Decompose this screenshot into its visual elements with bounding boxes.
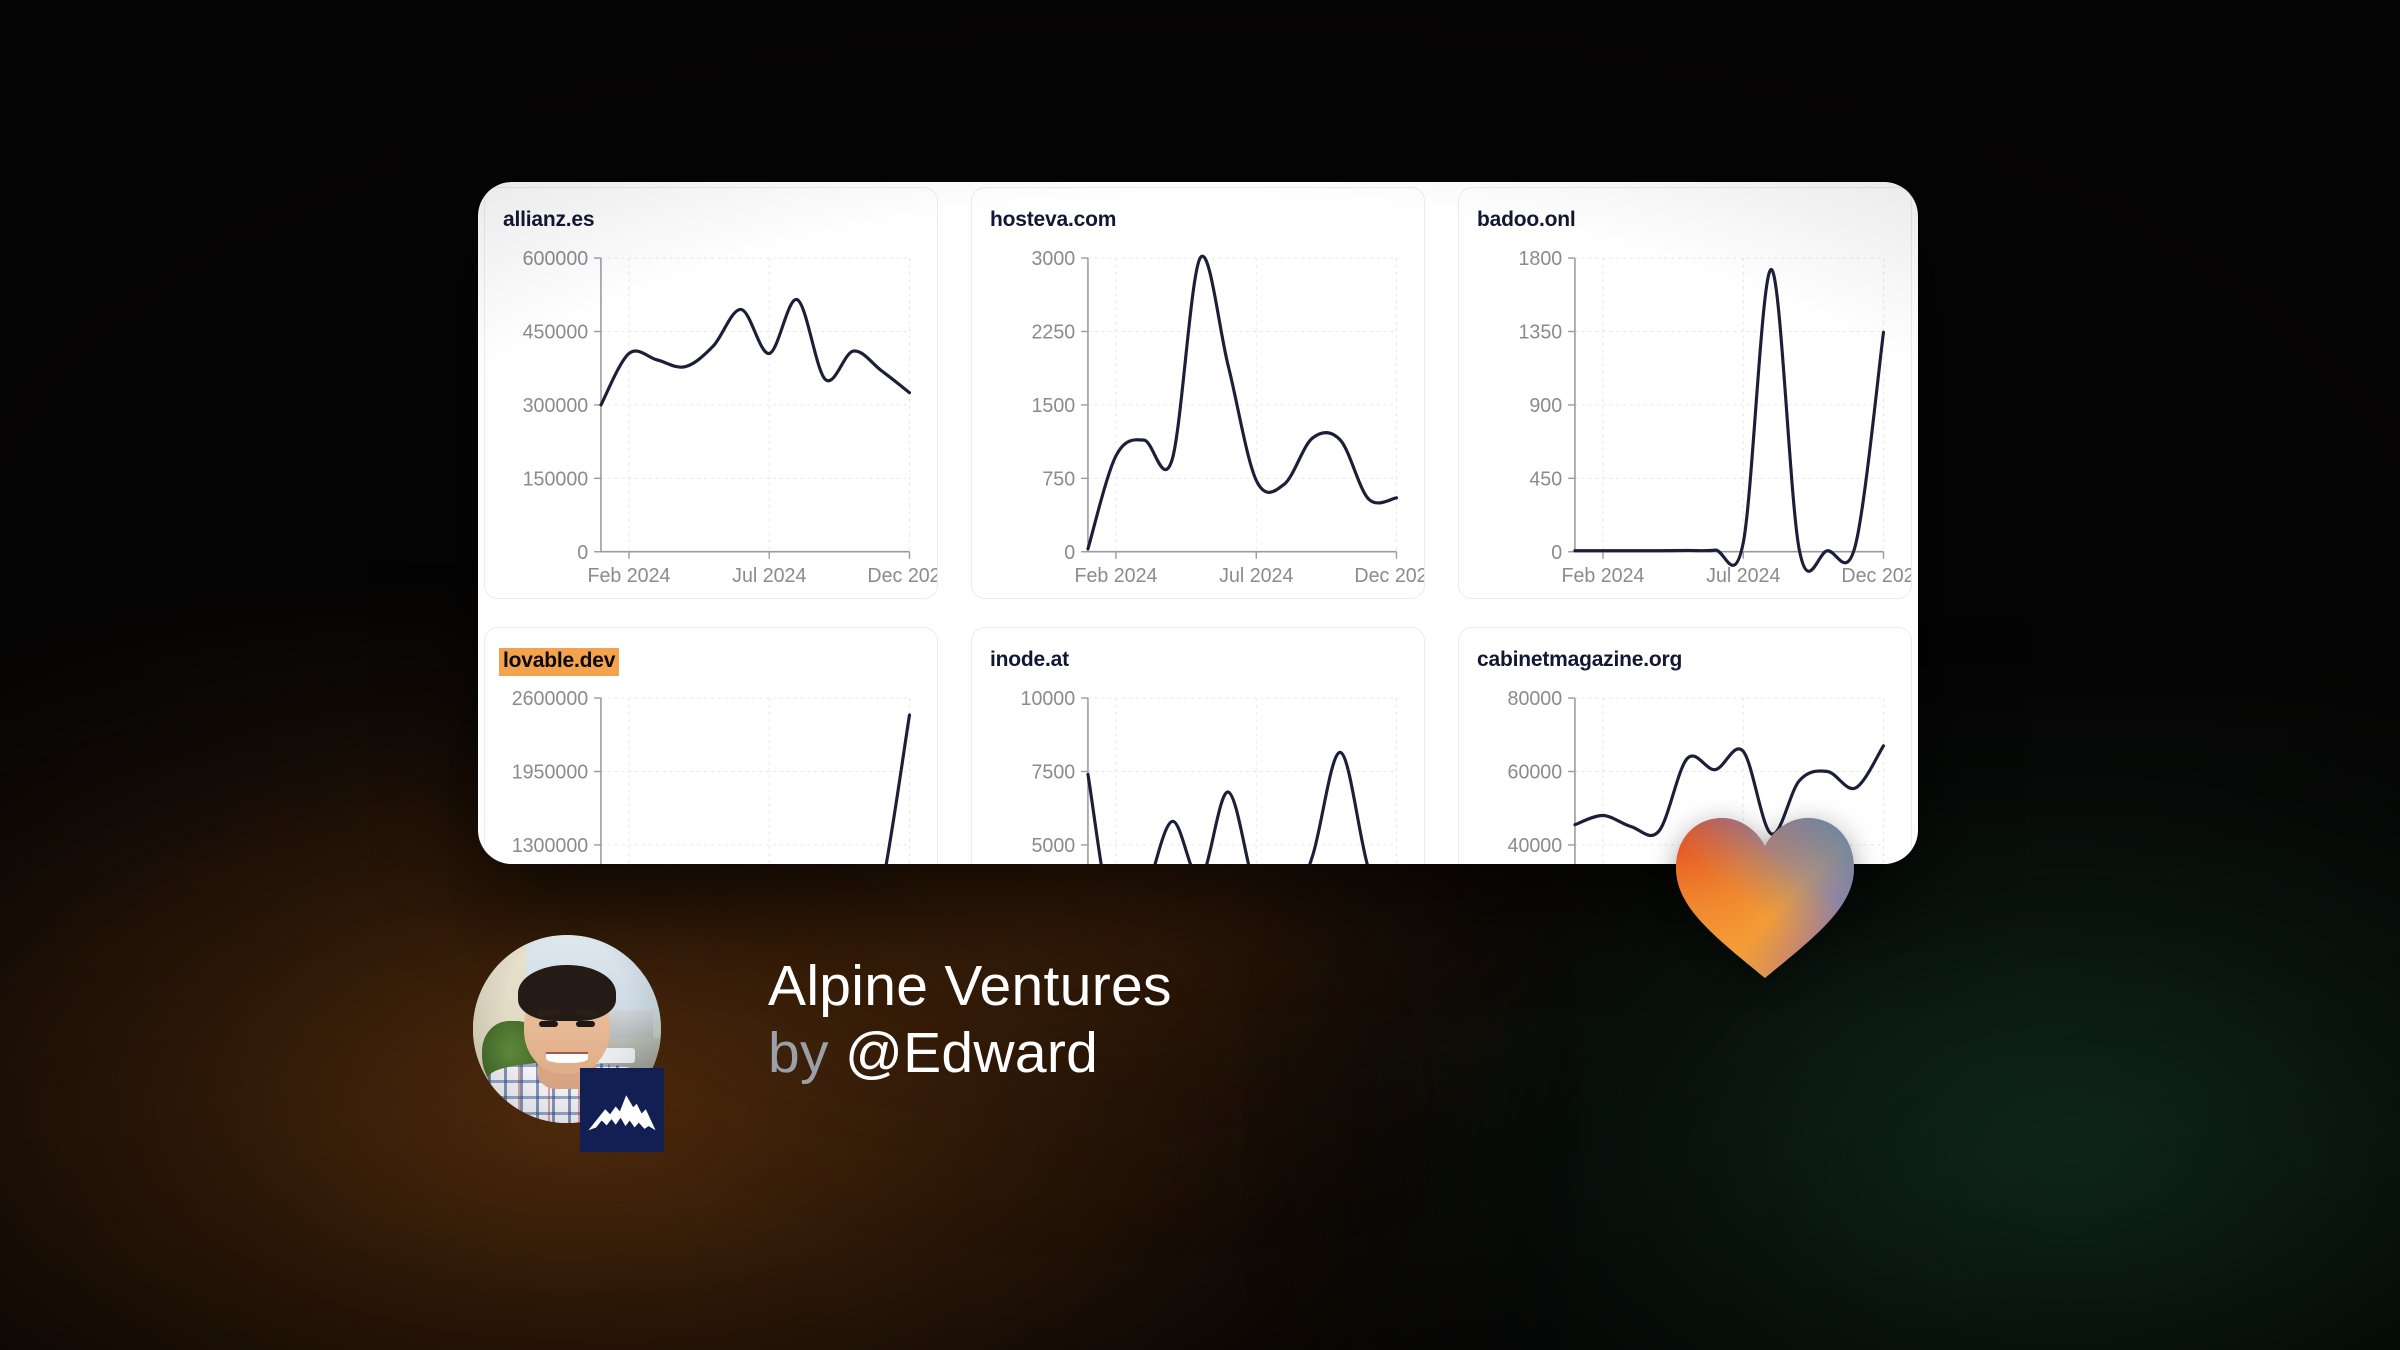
svg-text:1350: 1350: [1518, 321, 1562, 343]
by-label: by: [768, 1021, 829, 1085]
chart-plot: 25005000750010000: [972, 686, 1424, 864]
chart-card[interactable]: lovable.dev650000130000019500002600000: [484, 627, 938, 864]
svg-text:Feb 2024: Feb 2024: [1074, 565, 1157, 587]
svg-text:1500: 1500: [1031, 395, 1075, 417]
chart-title: lovable.dev: [499, 648, 619, 676]
chart-card[interactable]: hosteva.com0750150022503000Feb 2024Jul 2…: [971, 187, 1425, 599]
svg-text:Dec 2024: Dec 2024: [867, 565, 937, 587]
handle: @Edward: [845, 1021, 1098, 1085]
svg-text:450: 450: [1529, 468, 1562, 490]
chart-card[interactable]: badoo.onl045090013501800Feb 2024Jul 2024…: [1458, 187, 1912, 599]
svg-text:10000: 10000: [1021, 688, 1076, 710]
svg-text:300000: 300000: [523, 395, 589, 417]
identity-block: Alpine Ventures by @Edward: [768, 955, 1668, 1089]
svg-text:Jul 2024: Jul 2024: [1706, 565, 1780, 587]
avatar: [473, 935, 661, 1123]
chart-card[interactable]: allianz.es0150000300000450000600000Feb 2…: [484, 187, 938, 599]
svg-text:80000: 80000: [1508, 688, 1563, 710]
svg-text:1950000: 1950000: [512, 761, 588, 783]
chart-plot: 650000130000019500002600000: [485, 686, 937, 864]
svg-text:3000: 3000: [1031, 248, 1075, 270]
svg-text:Dec 2024: Dec 2024: [1354, 565, 1424, 587]
svg-text:Dec 2024: Dec 2024: [1841, 565, 1911, 587]
byline: by @Edward: [768, 1018, 1668, 1089]
svg-text:1300000: 1300000: [512, 835, 588, 857]
svg-text:60000: 60000: [1508, 761, 1563, 783]
svg-text:900: 900: [1529, 395, 1562, 417]
traffic-dashboard-panel: allianz.es0150000300000450000600000Feb 2…: [478, 182, 1918, 864]
svg-text:Jul 2024: Jul 2024: [732, 565, 806, 587]
svg-text:40000: 40000: [1508, 835, 1563, 857]
chart-card[interactable]: inode.at25005000750010000: [971, 627, 1425, 864]
svg-text:2600000: 2600000: [512, 688, 588, 710]
svg-text:750: 750: [1042, 468, 1075, 490]
svg-text:1800: 1800: [1518, 248, 1562, 270]
svg-text:450000: 450000: [523, 321, 589, 343]
svg-text:0: 0: [1551, 542, 1562, 564]
svg-text:0: 0: [577, 542, 588, 564]
mountain-icon: [580, 1068, 664, 1152]
chart-title: hosteva.com: [990, 208, 1116, 233]
heart-icon[interactable]: [1672, 812, 1858, 980]
svg-text:Feb 2024: Feb 2024: [1561, 565, 1644, 587]
svg-text:7500: 7500: [1031, 761, 1075, 783]
page-title: Alpine Ventures: [768, 955, 1668, 1018]
chart-title: inode.at: [990, 648, 1069, 673]
svg-text:5000: 5000: [1031, 835, 1075, 857]
svg-text:600000: 600000: [523, 248, 589, 270]
svg-text:150000: 150000: [523, 468, 589, 490]
chart-plot: 0150000300000450000600000Feb 2024Jul 202…: [485, 246, 937, 598]
chart-plot: 0750150022503000Feb 2024Jul 2024Dec 2024: [972, 246, 1424, 598]
svg-text:2250: 2250: [1031, 321, 1075, 343]
svg-text:Jul 2024: Jul 2024: [1219, 565, 1293, 587]
chart-grid: allianz.es0150000300000450000600000Feb 2…: [478, 182, 1918, 864]
chart-title: allianz.es: [503, 208, 594, 233]
svg-text:Feb 2024: Feb 2024: [587, 565, 670, 587]
chart-title: badoo.onl: [1477, 208, 1576, 233]
svg-text:0: 0: [1064, 542, 1075, 564]
chart-title: cabinetmagazine.org: [1477, 648, 1682, 673]
chart-plot: 045090013501800Feb 2024Jul 2024Dec 2024: [1459, 246, 1911, 598]
